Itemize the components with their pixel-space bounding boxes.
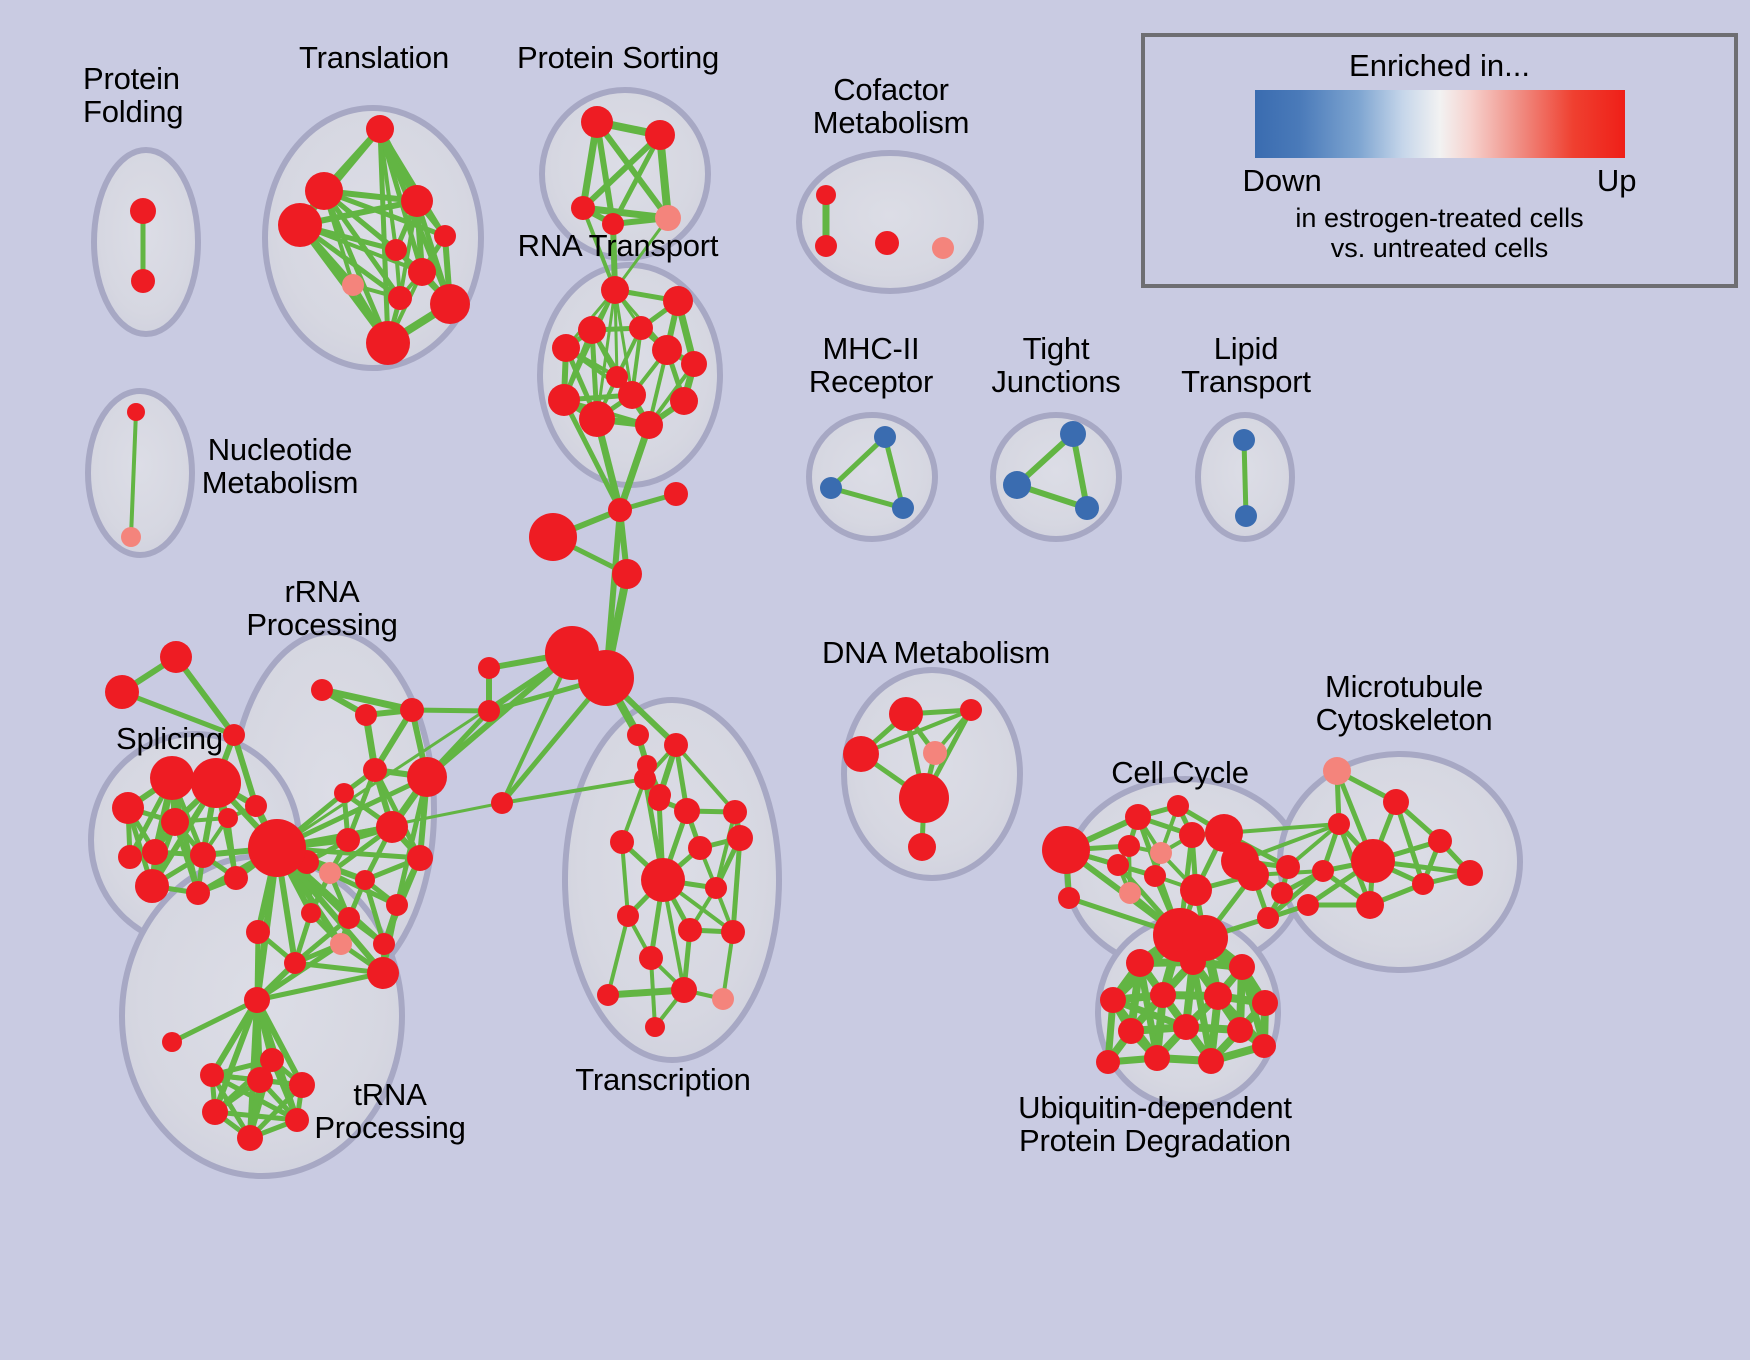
cluster-label-rrna-processing: rRNAProcessing [72,575,572,642]
cluster-label-line: Cofactor [641,73,1141,106]
gene-set-node[interactable] [1312,860,1334,882]
gene-set-node[interactable] [705,877,727,899]
gene-set-node[interactable] [160,641,192,673]
gene-set-node[interactable] [1229,954,1255,980]
gene-set-node[interactable] [366,321,410,365]
gene-set-node[interactable] [1100,987,1126,1013]
cluster-label-line: tRNA [140,1078,640,1111]
gene-set-node[interactable] [578,650,634,706]
gene-set-node[interactable] [161,808,189,836]
cluster-label-line: Metabolism [641,106,1141,139]
gene-set-node[interactable] [548,384,580,416]
mhc-ii-hull[interactable] [809,415,935,539]
gene-set-node[interactable] [820,477,842,499]
gene-set-node[interactable] [1252,1034,1276,1058]
network-edge [1244,440,1246,516]
gene-set-node[interactable] [191,758,241,808]
cluster-label-dna-metabolism: DNA Metabolism [686,636,1186,669]
legend-title: Enriched in... [1349,48,1530,84]
gene-set-node[interactable] [1107,854,1129,876]
gene-set-node[interactable] [1356,891,1384,919]
gene-set-node[interactable] [649,784,671,806]
gene-set-node[interactable] [712,988,734,1010]
gene-set-node[interactable] [581,106,613,138]
gene-set-node[interactable] [246,920,270,944]
cluster-label-line: RNA Transport [368,229,868,262]
gene-set-node[interactable] [1428,829,1452,853]
legend: Enriched in... Down Up in estrogen-treat… [1141,33,1738,288]
gene-set-node[interactable] [678,918,702,942]
gene-set-node[interactable] [338,907,360,929]
gene-set-node[interactable] [727,825,753,851]
gene-set-node[interactable] [889,697,923,731]
gene-set-node[interactable] [284,952,306,974]
legend-subtitle-line1: in estrogen-treated cells [1295,203,1583,233]
gene-set-node[interactable] [1125,804,1151,830]
gene-set-node[interactable] [529,513,577,561]
gene-set-node[interactable] [1075,496,1099,520]
gene-set-node[interactable] [571,196,595,220]
gene-set-node[interactable] [142,839,168,865]
cluster-label-line: Transport [996,365,1496,398]
gene-set-node[interactable] [663,286,693,316]
gene-set-node[interactable] [127,403,145,421]
gene-set-node[interactable] [608,498,632,522]
cluster-label-protein-sorting: Protein Sorting [368,41,868,74]
gene-set-node[interactable] [1058,887,1080,909]
gene-set-node[interactable] [617,905,639,927]
cluster-label-line: Processing [72,608,572,641]
gene-set-node[interactable] [1167,795,1189,817]
gene-set-node[interactable] [579,401,615,437]
gene-set-node[interactable] [130,198,156,224]
gene-set-node[interactable] [311,679,333,701]
gene-set-node[interactable] [1233,429,1255,451]
cluster-label-rna-transport: RNA Transport [368,229,868,262]
cluster-label-line: Folding [83,95,183,128]
gene-set-node[interactable] [355,870,375,890]
legend-high-label: Up [1597,163,1637,199]
gene-set-node[interactable] [597,984,619,1006]
cluster-label-trna-processing: tRNAProcessing [140,1078,640,1145]
cluster-label-line: Microtubule [1154,670,1654,703]
gene-set-node[interactable] [612,559,642,589]
gene-set-node[interactable] [721,920,745,944]
gene-set-node[interactable] [578,316,606,344]
gene-set-node[interactable] [1118,835,1140,857]
network-edge [427,653,572,777]
gene-set-node[interactable] [1126,949,1154,977]
cluster-label-line: Protein Sorting [368,41,868,74]
gene-set-node[interactable] [430,284,470,324]
legend-subtitle-line2: vs. untreated cells [1295,233,1583,263]
gene-set-node[interactable] [400,698,424,722]
gene-set-node[interactable] [135,869,169,903]
gene-set-node[interactable] [305,172,343,210]
gene-set-node[interactable] [664,733,688,757]
gene-set-node[interactable] [875,231,899,255]
gene-set-node[interactable] [635,411,663,439]
cluster-label-splicing: Splicing [116,722,223,755]
legend-endpoints: Down Up [1235,163,1645,199]
gene-set-node[interactable] [407,845,433,871]
enrichment-map-figure: ProteinFoldingTranslationProtein Sorting… [0,0,1750,1360]
gene-set-node[interactable] [1457,860,1483,886]
gene-set-node[interactable] [1096,1050,1120,1074]
legend-color-scale [1255,90,1625,158]
gene-set-node[interactable] [1180,874,1212,906]
legend-subtitle: in estrogen-treated cells vs. untreated … [1295,203,1583,263]
gene-set-node[interactable] [1412,873,1434,895]
cluster-label-line: Lipid [996,332,1496,365]
gene-set-node[interactable] [601,276,629,304]
gene-set-node[interactable] [245,795,267,817]
gene-set-node[interactable] [248,819,306,877]
legend-low-label: Down [1243,163,1322,199]
gene-set-node[interactable] [1003,471,1031,499]
gene-set-node[interactable] [688,836,712,860]
gene-set-node[interactable] [355,704,377,726]
gene-set-node[interactable] [1060,421,1086,447]
gene-set-node[interactable] [336,828,360,852]
gene-set-node[interactable] [1351,839,1395,883]
gene-set-node[interactable] [1118,1018,1144,1044]
gene-set-node[interactable] [150,756,194,800]
gene-set-node[interactable] [932,237,954,259]
cluster-label-line: Splicing [116,722,223,755]
gene-set-node[interactable] [342,274,364,296]
protein-folding-hull[interactable] [94,150,198,334]
gene-set-node[interactable] [1173,1014,1199,1040]
cluster-label-nucleotide-metabolism: NucleotideMetabolism [30,433,530,500]
gene-set-node[interactable] [105,675,139,709]
gene-set-node[interactable] [723,800,747,824]
gene-set-node[interactable] [1271,882,1293,904]
gene-set-node[interactable] [639,946,663,970]
gene-set-node[interactable] [960,699,982,721]
gene-set-node[interactable] [1119,882,1141,904]
gene-set-node[interactable] [223,724,245,746]
cluster-label-line: DNA Metabolism [686,636,1186,669]
gene-set-node[interactable] [1144,865,1166,887]
gene-set-node[interactable] [1042,826,1090,874]
gene-set-node[interactable] [218,808,238,828]
gene-set-node[interactable] [1204,982,1232,1010]
cluster-label-microtubule-cytoskeleton: MicrotubuleCytoskeleton [1154,670,1654,737]
gene-set-node[interactable] [1257,907,1279,929]
gene-set-node[interactable] [1276,855,1300,879]
gene-set-node[interactable] [186,881,210,905]
cluster-label-line: Cell Cycle [930,756,1430,789]
gene-set-node[interactable] [1235,505,1257,527]
cluster-label-line: Cytoskeleton [1154,703,1654,736]
gene-set-node[interactable] [363,758,387,782]
gene-set-node[interactable] [1150,842,1172,864]
cluster-label-line: Processing [140,1111,640,1144]
gene-set-node[interactable] [1297,894,1319,916]
gene-set-node[interactable] [224,866,248,890]
gene-set-node[interactable] [244,987,270,1013]
gene-set-node[interactable] [388,286,412,310]
gene-set-node[interactable] [407,757,447,797]
gene-set-node[interactable] [373,933,395,955]
gene-set-node[interactable] [367,957,399,989]
gene-set-node[interactable] [278,203,322,247]
gene-set-node[interactable] [641,858,685,902]
gene-set-node[interactable] [376,811,408,843]
gene-set-node[interactable] [816,185,836,205]
gene-set-node[interactable] [190,842,216,868]
gene-set-node[interactable] [1180,949,1206,975]
cluster-label-ubiquitin-degradation: Ubiquitin-dependentProtein Degradation [905,1091,1405,1158]
gene-set-node[interactable] [319,862,341,884]
gene-set-node[interactable] [843,736,879,772]
gene-set-node[interactable] [674,798,700,824]
gene-set-node[interactable] [131,269,155,293]
gene-set-node[interactable] [664,482,688,506]
gene-set-node[interactable] [1252,990,1278,1016]
gene-set-node[interactable] [478,700,500,722]
cluster-label-lipid-transport: LipidTransport [996,332,1496,399]
gene-set-node[interactable] [366,115,394,143]
gene-set-node[interactable] [1179,822,1205,848]
gene-set-node[interactable] [118,845,142,869]
gene-set-node[interactable] [401,185,433,217]
cluster-label-cell-cycle: Cell Cycle [930,756,1430,789]
cluster-label-line: Nucleotide [30,433,530,466]
gene-set-node[interactable] [610,830,634,854]
gene-set-node[interactable] [1237,859,1269,891]
gene-set-node[interactable] [334,783,354,803]
cluster-label-line: Ubiquitin-dependent [905,1091,1405,1124]
gene-set-node[interactable] [330,933,352,955]
gene-set-node[interactable] [491,792,513,814]
gene-set-node[interactable] [1144,1045,1170,1071]
cluster-label-line: rRNA [72,575,572,608]
gene-set-node[interactable] [1227,1017,1253,1043]
gene-set-node[interactable] [627,724,649,746]
cluster-label-cofactor-metabolism: CofactorMetabolism [641,73,1141,140]
gene-set-node[interactable] [301,903,321,923]
gene-set-node[interactable] [1328,813,1350,835]
cluster-label-line: Protein Degradation [905,1124,1405,1157]
gene-set-node[interactable] [478,657,500,679]
gene-set-node[interactable] [1383,789,1409,815]
gene-set-node[interactable] [386,894,408,916]
gene-set-node[interactable] [892,497,914,519]
gene-set-node[interactable] [637,755,657,775]
gene-set-node[interactable] [908,833,936,861]
gene-set-node[interactable] [874,426,896,448]
gene-set-node[interactable] [671,977,697,1003]
gene-set-node[interactable] [1198,1048,1224,1074]
gene-set-node[interactable] [552,334,580,362]
gene-set-node[interactable] [112,792,144,824]
gene-set-node[interactable] [1150,982,1176,1008]
gene-set-node[interactable] [121,527,141,547]
gene-set-node[interactable] [162,1032,182,1052]
gene-set-node[interactable] [645,1017,665,1037]
cluster-label-line: Metabolism [30,466,530,499]
